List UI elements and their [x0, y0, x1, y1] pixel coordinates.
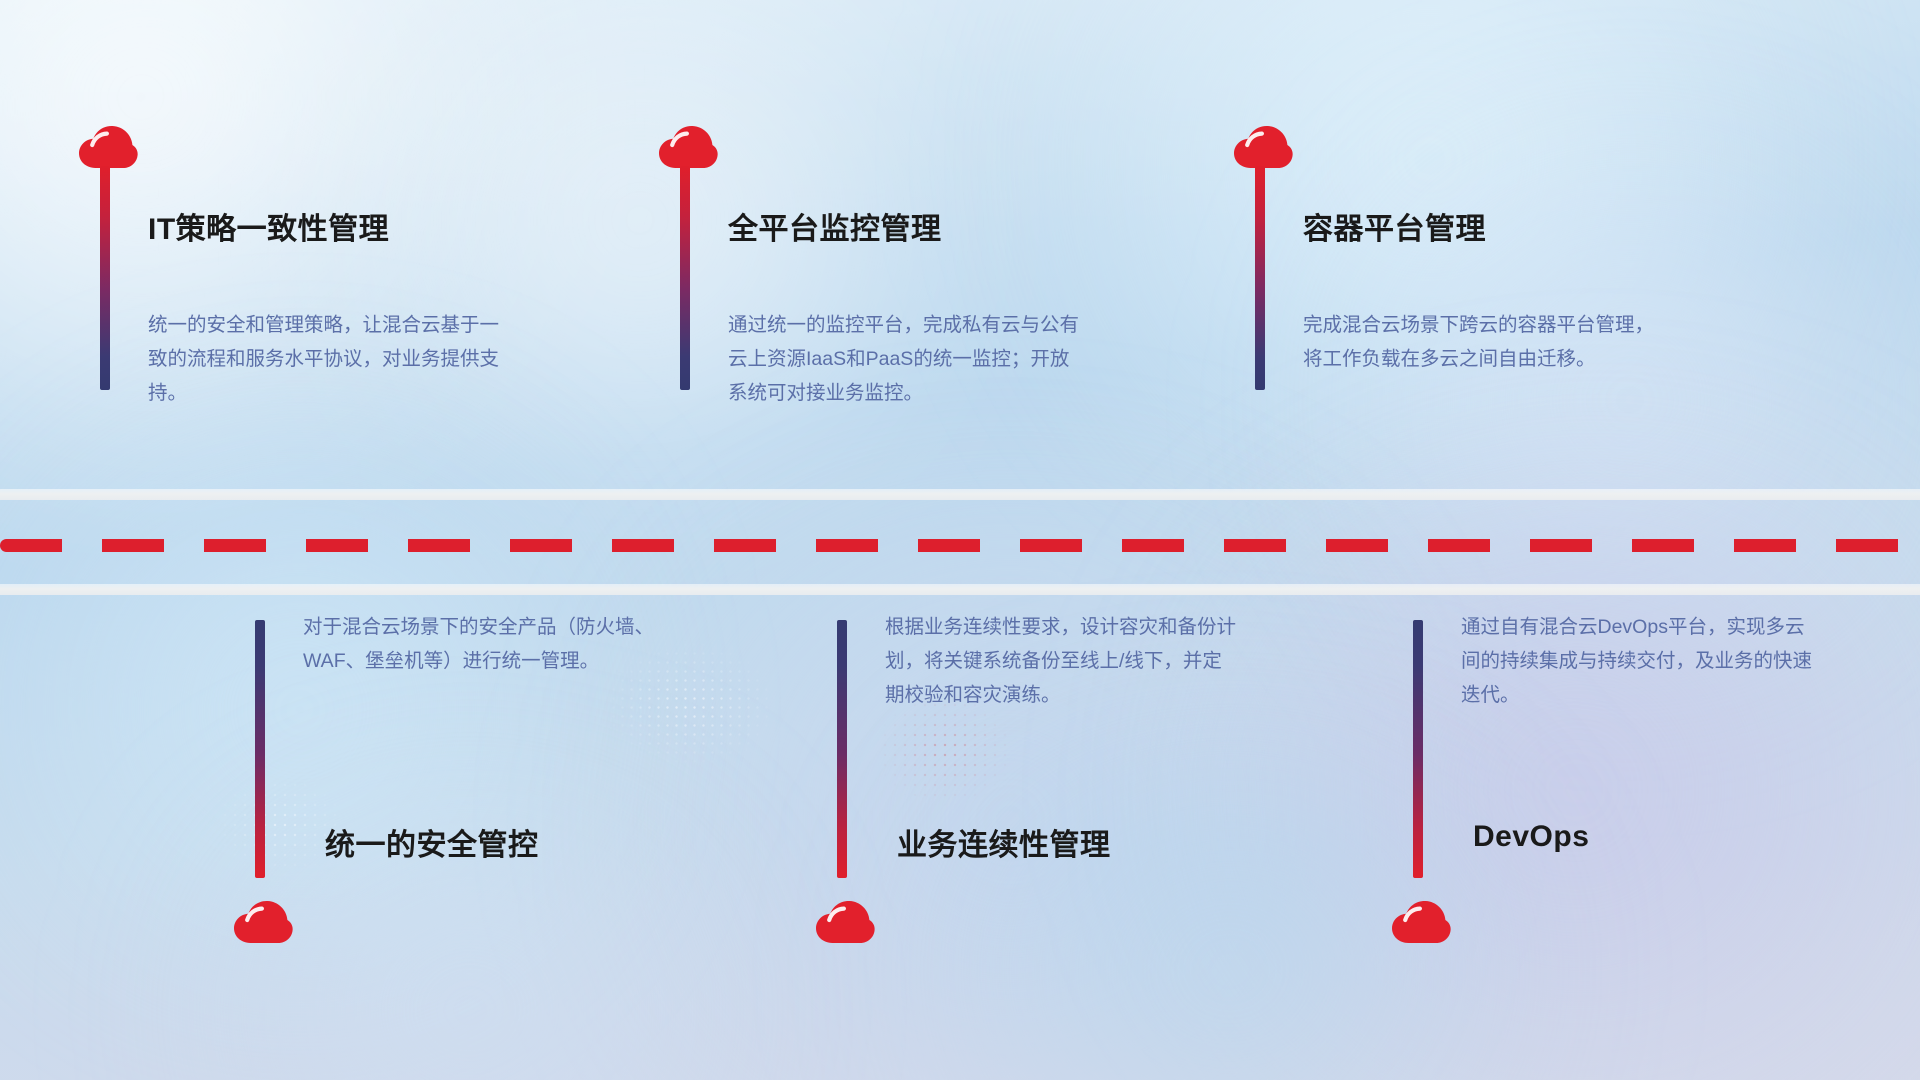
milestone-title: 全平台监控管理: [728, 204, 942, 248]
milestone-title: 容器平台管理: [1303, 204, 1486, 248]
milestone-title: 业务连续性管理: [897, 820, 1111, 864]
road-edge-bottom: [0, 584, 1920, 595]
cloud-icon: [233, 900, 293, 944]
milestone-description: 统一的安全和管理策略，让混合云基于一致的流程和服务水平协议，对业务提供支持。: [148, 308, 500, 410]
milestone-description: 通过自有混合云DevOps平台，实现多云间的持续集成与持续交付，及业务的快速迭代…: [1461, 610, 1813, 712]
milestone-description: 完成混合云场景下跨云的容器平台管理，将工作负载在多云之间自由迁移。: [1303, 308, 1655, 376]
milestone-stem: [680, 166, 690, 390]
cloud-icon: [815, 900, 875, 944]
milestone-title: 统一的安全管控: [325, 820, 539, 864]
milestone-description: 根据业务连续性要求，设计容灾和备份计划，将关键系统备份至线上/线下，并定期校验和…: [885, 610, 1237, 712]
dashed-road-divider: [0, 489, 1920, 595]
cloud-icon: [1391, 900, 1451, 944]
cloud-icon: [658, 125, 718, 169]
milestone-description: 通过统一的监控平台，完成私有云与公有云上资源IaaS和PaaS的统一监控；开放系…: [728, 308, 1080, 410]
milestone-description: 对于混合云场景下的安全产品（防火墙、WAF、堡垒机等）进行统一管理。: [303, 610, 655, 678]
milestone-stem: [1413, 620, 1423, 878]
road-dash-line: [0, 539, 1920, 552]
road-edge-top: [0, 489, 1920, 500]
milestone-stem: [255, 620, 265, 878]
milestone-stem: [837, 620, 847, 878]
cloud-icon: [1233, 125, 1293, 169]
milestone-title: IT策略一致性管理: [148, 204, 389, 248]
milestone-stem: [100, 166, 110, 390]
milestone-title: DevOps: [1473, 820, 1589, 854]
cloud-icon: [78, 125, 138, 169]
milestone-stem: [1255, 166, 1265, 390]
